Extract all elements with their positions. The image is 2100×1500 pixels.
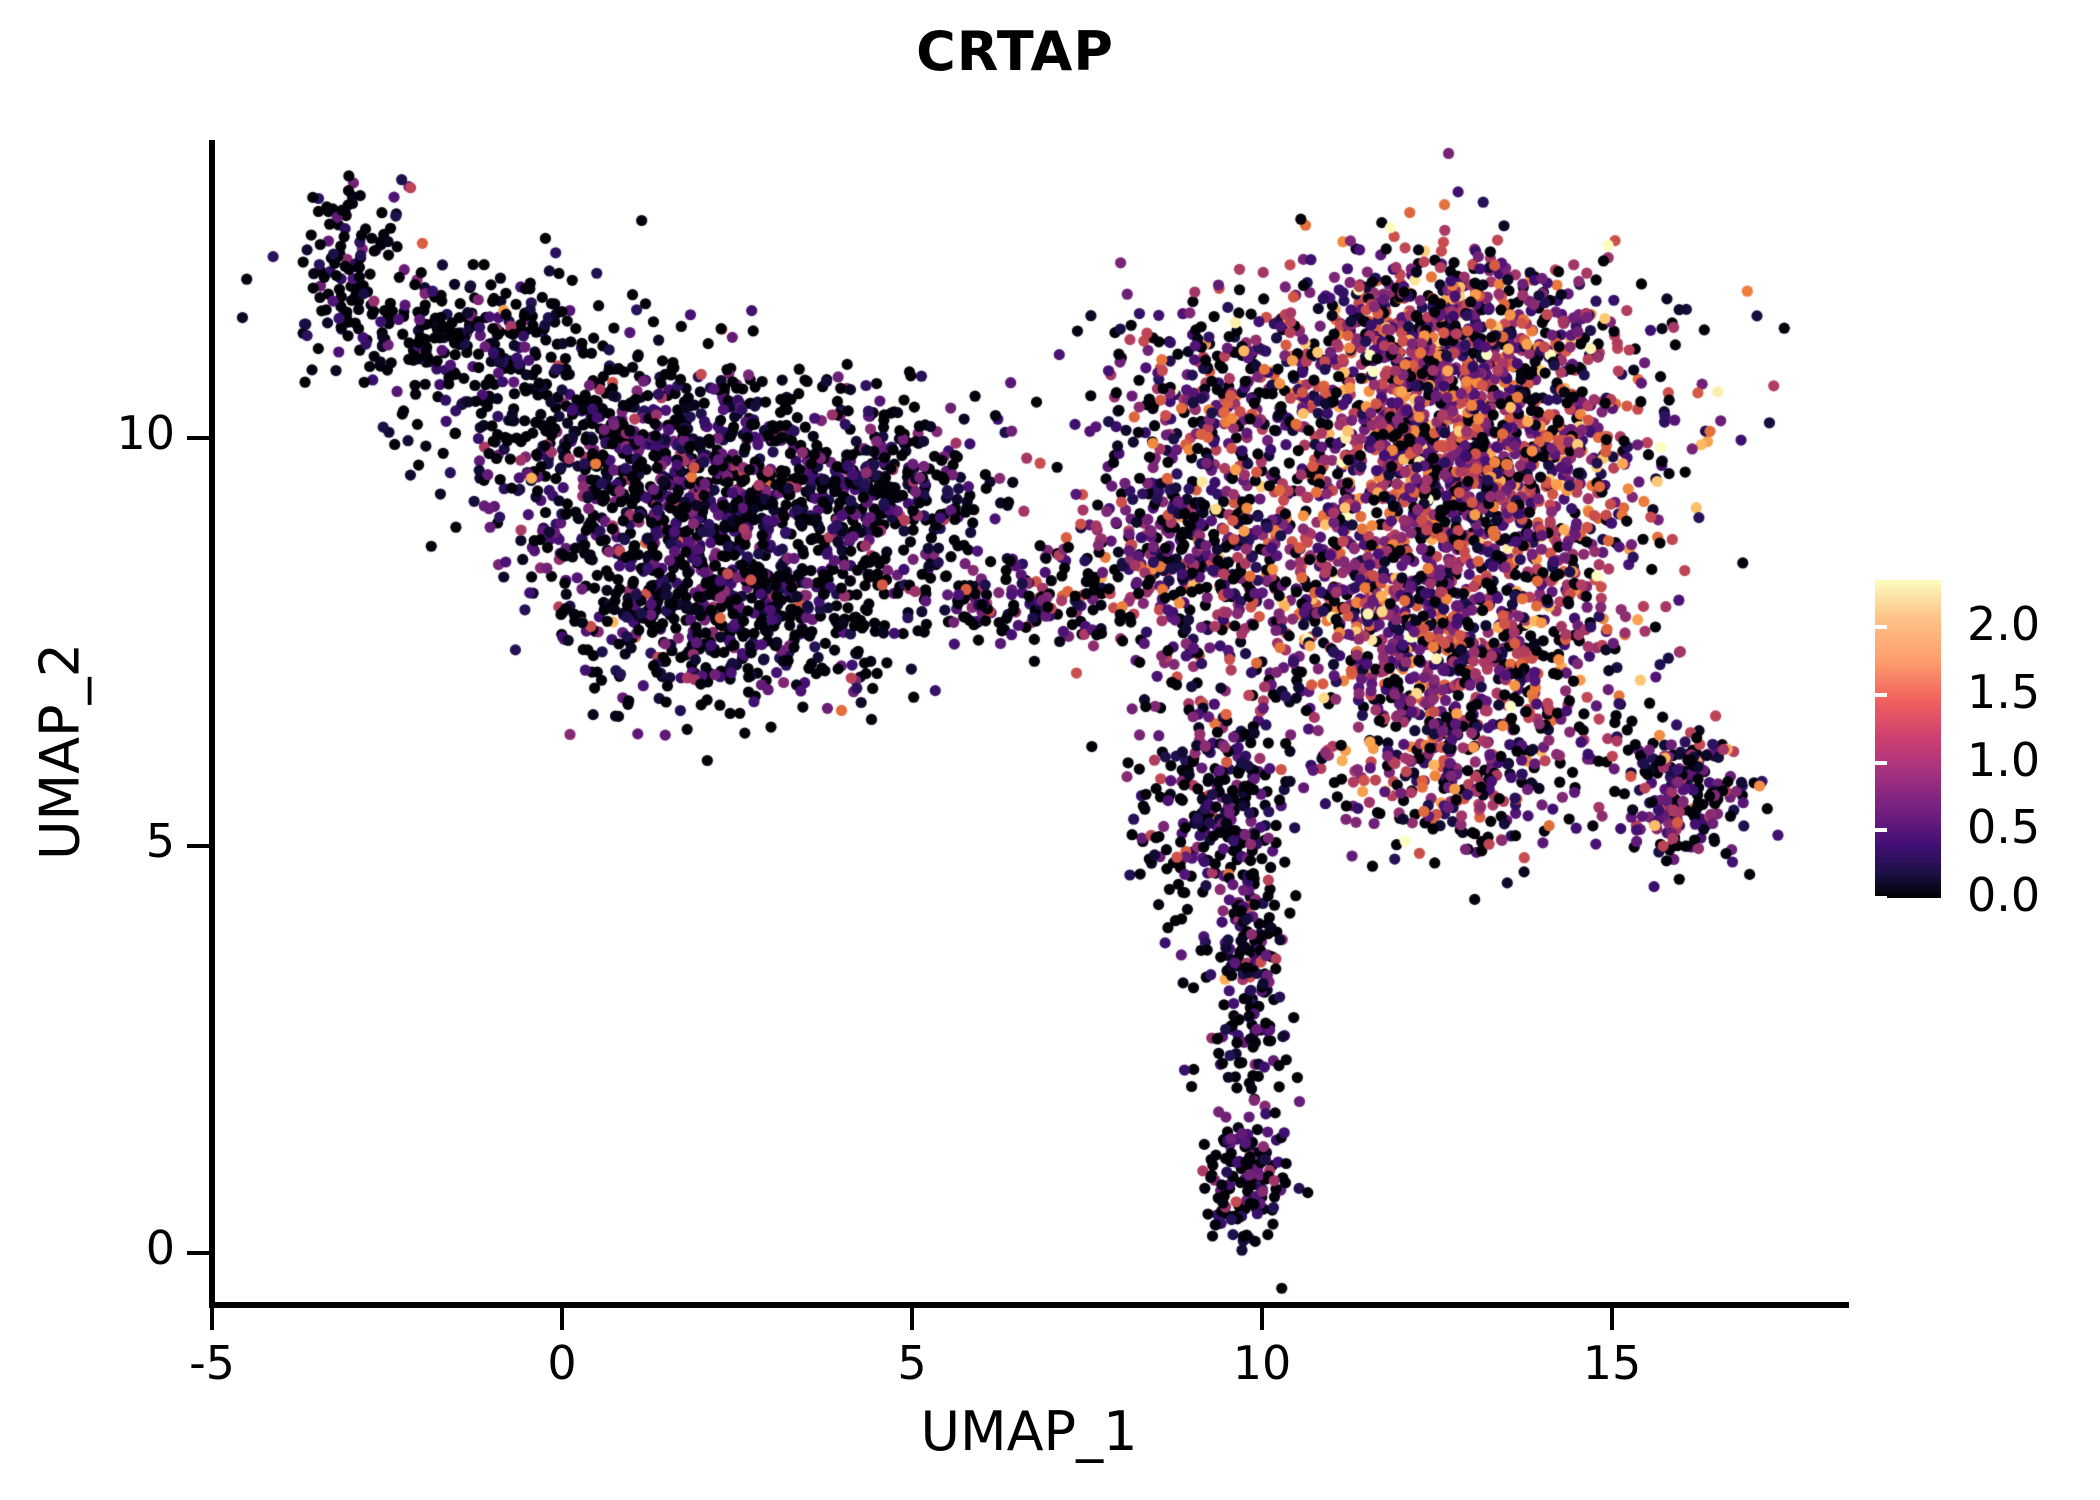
x-tick-mark	[1260, 1308, 1264, 1330]
x-axis-label: UMAP_1	[209, 1400, 1849, 1463]
y-axis-label: UMAP_2	[29, 552, 92, 952]
colorbar-tick-mark	[1875, 625, 1887, 629]
y-tick-mark	[187, 436, 209, 440]
x-tick-label: -5	[132, 1336, 292, 1390]
y-tick-label: 10	[0, 406, 175, 460]
x-tick-label: 5	[832, 1336, 992, 1390]
colorbar-tick-label: 2.0	[1967, 597, 2100, 651]
x-tick-mark	[210, 1308, 214, 1330]
page-title: CRTAP	[0, 20, 2030, 83]
x-tick-mark	[560, 1308, 564, 1330]
colorbar-tick-mark	[1863, 693, 1875, 697]
x-tick-label: 10	[1182, 1336, 1342, 1390]
x-tick-mark	[1610, 1308, 1614, 1330]
colorbar-tick-label: 0.0	[1967, 868, 2100, 922]
colorbar-tick-mark	[1875, 828, 1887, 832]
colorbar-tick-label: 1.0	[1967, 733, 2100, 787]
scatter-plot-area	[215, 140, 1849, 1302]
colorbar-tick-mark	[1863, 828, 1875, 832]
x-axis-spine	[209, 1302, 1849, 1308]
y-tick-label: 0	[0, 1221, 175, 1275]
umap-feature-plot: CRTAP -50510150510 UMAP_1 UMAP_2 2.01.51…	[0, 0, 2100, 1500]
colorbar-tick-label: 0.5	[1967, 800, 2100, 854]
colorbar-tick-mark	[1863, 896, 1875, 900]
colorbar-tick-mark	[1875, 896, 1887, 900]
x-tick-mark	[910, 1308, 914, 1330]
y-tick-mark	[187, 1251, 209, 1255]
colorbar-tick-mark	[1875, 693, 1887, 697]
colorbar-tick-label: 1.5	[1967, 665, 2100, 719]
y-tick-mark	[187, 844, 209, 848]
colorbar-tick-mark	[1863, 761, 1875, 765]
colorbar-tick-mark	[1863, 625, 1875, 629]
x-tick-label: 15	[1532, 1336, 1692, 1390]
colorbar-tick-mark	[1875, 761, 1887, 765]
x-tick-label: 0	[482, 1336, 642, 1390]
